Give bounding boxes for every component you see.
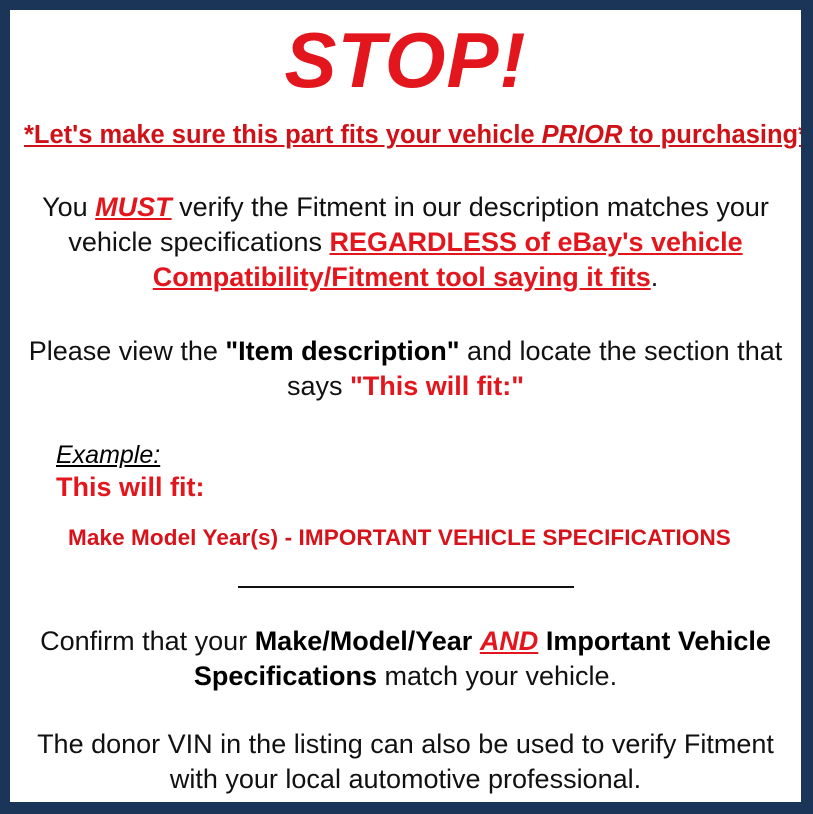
confirm-seg-4: match your vehicle. (377, 661, 617, 691)
divider-wrap (24, 578, 787, 596)
example-label: Example: (56, 441, 160, 470)
confirm-seg-3 (538, 626, 546, 656)
example-this-will-fit-heading: This will fit: (56, 472, 787, 503)
horizontal-divider (238, 586, 574, 588)
sub-headline: *Let's make sure this part fits your veh… (24, 120, 787, 151)
must-seg-3: . (651, 262, 659, 292)
emphasis-make-model-year: Make/Model/Year (255, 626, 473, 656)
emphasis-must: MUST (95, 192, 172, 222)
emphasis-item-description: "Item description" (225, 336, 459, 366)
example-label-row: Example: (56, 441, 787, 470)
example-block: Example: This will fit: Make Model Year(… (24, 441, 787, 551)
must-seg-1: You (42, 192, 95, 222)
confirm-seg-1: Confirm that your (40, 626, 255, 656)
paragraph-confirm: Confirm that your Make/Model/Year AND Im… (24, 624, 787, 693)
paragraph-item-description: Please view the "Item description" and l… (24, 334, 787, 403)
emphasis-this-will-fit: "This will fit:" (350, 371, 524, 401)
sub-headline-text-before: *Let's make sure this part fits your veh… (24, 121, 542, 149)
itemdesc-seg-1: Please view the (29, 336, 226, 366)
sub-headline-emphasis-prior: PRIOR (542, 121, 623, 149)
example-spec-line: Make Model Year(s) - IMPORTANT VEHICLE S… (56, 525, 787, 551)
paragraph-donor-vin: The donor VIN in the listing can also be… (24, 727, 787, 796)
confirm-seg-2 (472, 626, 480, 656)
paragraph-must-verify: You MUST verify the Fitment in our descr… (24, 190, 787, 294)
fitment-notice-card: STOP! *Let's make sure this part fits yo… (0, 0, 813, 814)
emphasis-and: AND (480, 626, 539, 656)
sub-headline-text-after: to purchasing* (622, 121, 801, 149)
stop-heading: STOP! (24, 10, 787, 102)
notice-inner-panel: STOP! *Let's make sure this part fits yo… (10, 10, 801, 802)
